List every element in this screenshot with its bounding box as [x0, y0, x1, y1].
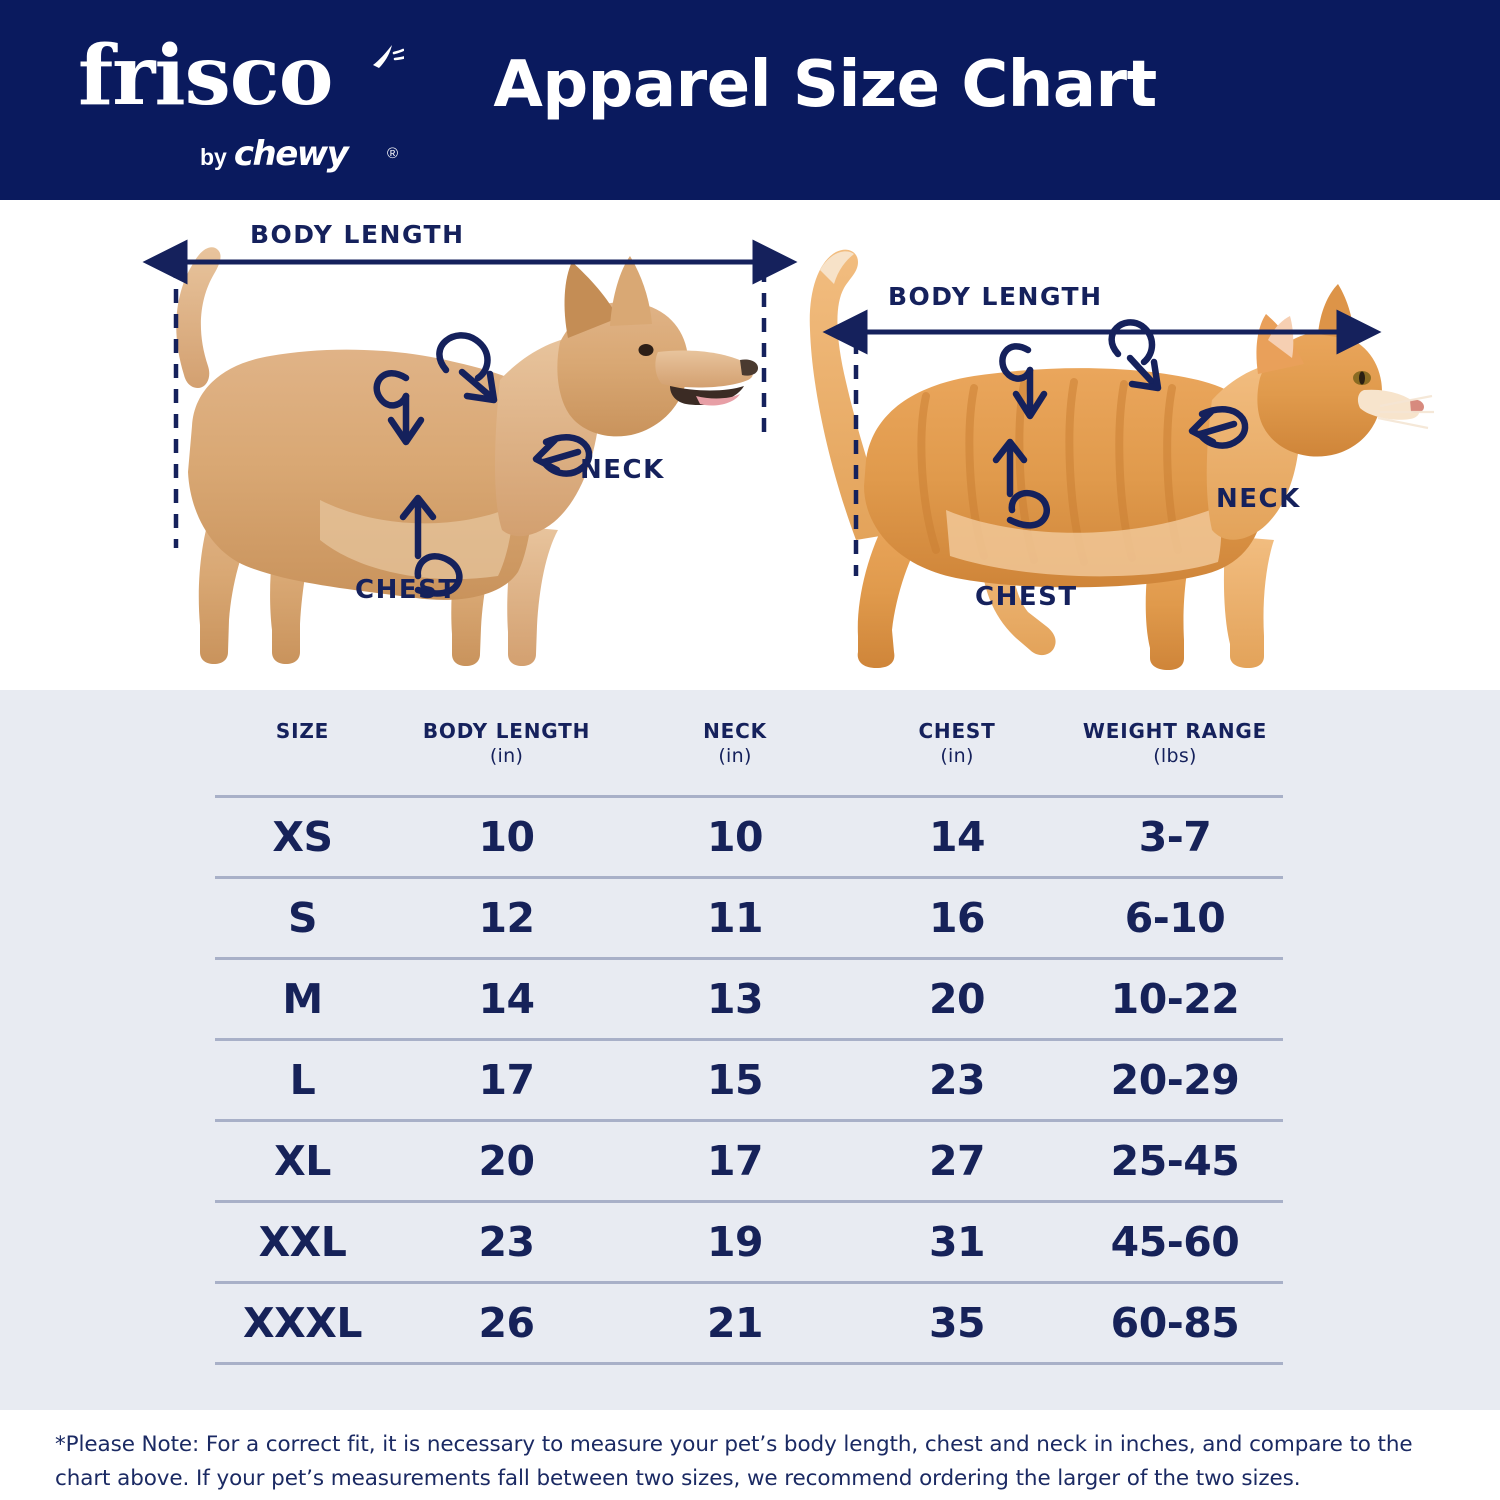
cell-size: XXL: [215, 1202, 390, 1283]
cell-body-length: 23: [390, 1202, 623, 1283]
cat-illustration: BODY LENGTH NECK CHEST: [760, 200, 1460, 690]
dog-figure-graphic: [130, 200, 830, 690]
cell-weight-range: 10-22: [1067, 959, 1283, 1040]
column-header-chest: CHEST (in): [847, 710, 1067, 797]
table-head: SIZE BODY LENGTH (in) NECK (in) CHEST (i…: [215, 710, 1283, 797]
cat-body-length-label: BODY LENGTH: [888, 282, 1103, 311]
cell-size: XL: [215, 1121, 390, 1202]
column-header-weight-range-unit: (lbs): [1067, 744, 1283, 769]
dog-chest-label: CHEST: [355, 575, 458, 605]
page-title: Apparel Size Chart: [0, 48, 1500, 122]
cell-neck: 19: [623, 1202, 847, 1283]
column-header-size-label: SIZE: [276, 719, 329, 743]
logo-by-text: by: [200, 144, 227, 171]
column-header-chest-label: CHEST: [918, 719, 995, 743]
cell-size: L: [215, 1040, 390, 1121]
column-header-size: SIZE: [215, 710, 390, 797]
cell-neck: 21: [623, 1283, 847, 1364]
cell-weight-range: 6-10: [1067, 878, 1283, 959]
cell-size: M: [215, 959, 390, 1040]
cell-body-length: 17: [390, 1040, 623, 1121]
cell-size: XS: [215, 797, 390, 878]
cell-size: XXXL: [215, 1283, 390, 1364]
cell-neck: 13: [623, 959, 847, 1040]
column-header-neck-label: NECK: [703, 719, 767, 743]
cell-weight-range: 20-29: [1067, 1040, 1283, 1121]
table-header-row: SIZE BODY LENGTH (in) NECK (in) CHEST (i…: [215, 710, 1283, 797]
column-header-body-length-label: BODY LENGTH: [423, 719, 590, 743]
size-table-area: SIZE BODY LENGTH (in) NECK (in) CHEST (i…: [0, 690, 1500, 1410]
table-row: XXXL 26 21 35 60-85: [215, 1283, 1283, 1364]
column-header-body-length: BODY LENGTH (in): [390, 710, 623, 797]
column-header-body-length-unit: (in): [390, 744, 623, 769]
table-body: XS 10 10 14 3-7 S 12 11 16 6-10 M 14 13: [215, 797, 1283, 1364]
footnote-text: *Please Note: For a correct fit, it is n…: [55, 1428, 1445, 1496]
cell-chest: 35: [847, 1283, 1067, 1364]
apparel-size-table: SIZE BODY LENGTH (in) NECK (in) CHEST (i…: [215, 710, 1283, 1365]
table-row: XL 20 17 27 25-45: [215, 1121, 1283, 1202]
cell-weight-range: 3-7: [1067, 797, 1283, 878]
cat-figure-graphic: [760, 200, 1460, 690]
cat-chest-label: CHEST: [975, 582, 1078, 612]
cell-neck: 15: [623, 1040, 847, 1121]
size-chart-page: frisco ® by chewy Apparel Size Chart: [0, 0, 1500, 1500]
column-header-neck: NECK (in): [623, 710, 847, 797]
cell-body-length: 12: [390, 878, 623, 959]
column-header-chest-unit: (in): [847, 744, 1067, 769]
cell-neck: 11: [623, 878, 847, 959]
cat-body-shape: [810, 250, 1434, 670]
dog-illustration: BODY LENGTH NECK CHEST: [130, 200, 830, 690]
cell-weight-range: 60-85: [1067, 1283, 1283, 1364]
cell-chest: 23: [847, 1040, 1067, 1121]
cell-chest: 20: [847, 959, 1067, 1040]
table-row: XXL 23 19 31 45-60: [215, 1202, 1283, 1283]
table-row: L 17 15 23 20-29: [215, 1040, 1283, 1121]
dog-neck-label: NECK: [580, 455, 665, 485]
cell-body-length: 26: [390, 1283, 623, 1364]
cell-neck: 17: [623, 1121, 847, 1202]
cat-neck-label: NECK: [1216, 484, 1301, 514]
cell-chest: 31: [847, 1202, 1067, 1283]
cell-body-length: 20: [390, 1121, 623, 1202]
cell-chest: 16: [847, 878, 1067, 959]
table-row: M 14 13 20 10-22: [215, 959, 1283, 1040]
column-header-weight-range: WEIGHT RANGE (lbs): [1067, 710, 1283, 797]
cell-chest: 14: [847, 797, 1067, 878]
cell-body-length: 10: [390, 797, 623, 878]
cell-neck: 10: [623, 797, 847, 878]
registered-trademark-icon: ®: [387, 145, 398, 162]
cell-weight-range: 25-45: [1067, 1121, 1283, 1202]
column-header-neck-unit: (in): [623, 744, 847, 769]
cell-chest: 27: [847, 1121, 1067, 1202]
brand-wordmark-chewy: chewy: [234, 134, 348, 174]
table-row: XS 10 10 14 3-7: [215, 797, 1283, 878]
dog-body-shape: [176, 247, 758, 666]
cell-size: S: [215, 878, 390, 959]
cell-body-length: 14: [390, 959, 623, 1040]
by-chewy-lockup: by chewy: [200, 134, 347, 174]
dog-body-length-label: BODY LENGTH: [250, 220, 465, 249]
measurement-illustrations: BODY LENGTH NECK CHEST: [0, 200, 1500, 690]
cell-weight-range: 45-60: [1067, 1202, 1283, 1283]
column-header-weight-range-label: WEIGHT RANGE: [1083, 719, 1267, 743]
header-band: frisco ® by chewy Apparel Size Chart: [0, 0, 1500, 200]
table-row: S 12 11 16 6-10: [215, 878, 1283, 959]
